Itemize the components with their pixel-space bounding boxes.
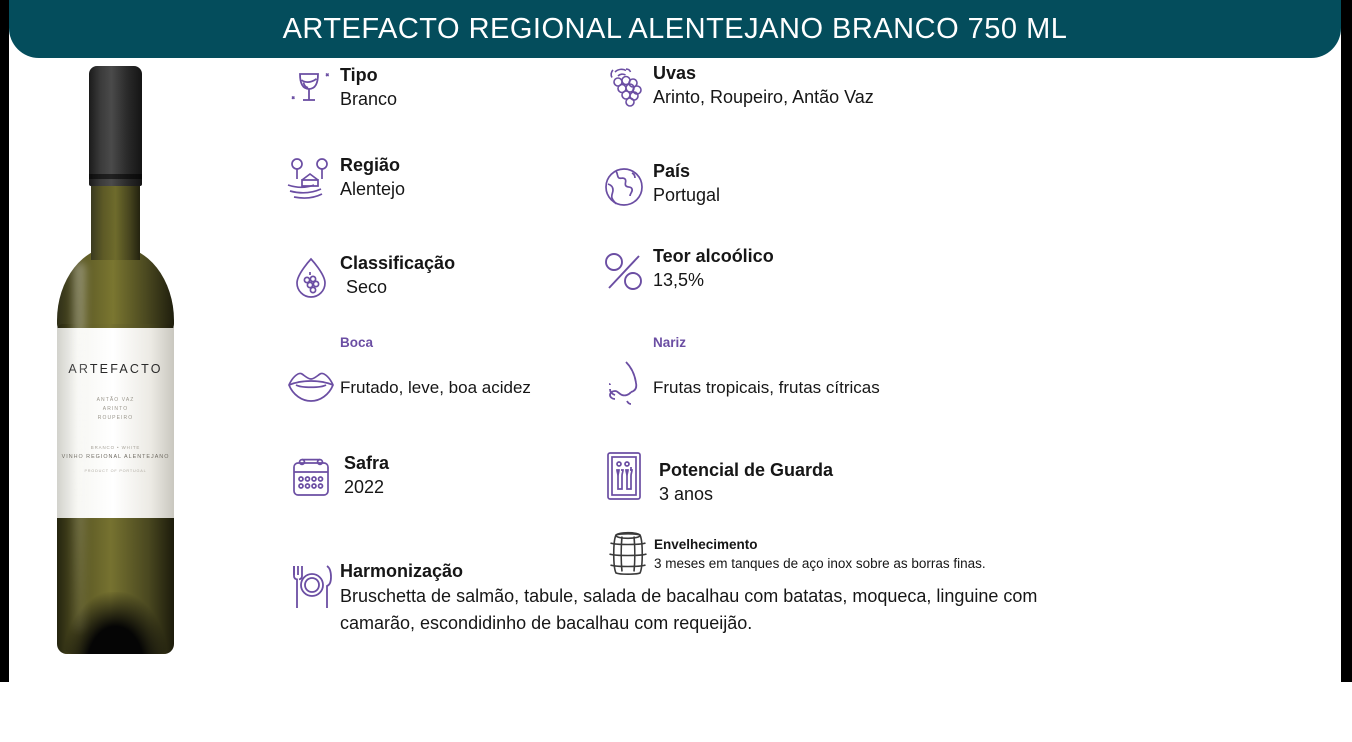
spec-value: Seco — [340, 275, 455, 300]
percent-icon — [595, 243, 653, 301]
spec-label: Boca — [340, 334, 531, 352]
calendar-icon — [282, 450, 340, 508]
lips-icon — [282, 356, 340, 414]
wine-fridge-icon — [595, 447, 653, 505]
spec-row-harmonizacao: Harmonização Bruschetta de salmão, tabul… — [282, 558, 1060, 637]
vineyard-icon — [282, 152, 340, 210]
spec-row-pais: País Portugal — [595, 158, 720, 216]
spec-value: 3 anos — [653, 482, 833, 507]
spec-label: Envelhecimento — [654, 536, 986, 554]
wine-glass-icon — [282, 62, 340, 120]
right-edge-bar — [1341, 0, 1352, 682]
header-banner: ARTEFACTO REGIONAL ALENTEJANO BRANCO 750… — [9, 0, 1341, 58]
spec-value: Frutas tropicais, frutas cítricas — [653, 376, 880, 400]
spec-label: País — [653, 160, 720, 183]
spec-row-regiao: Região Alentejo — [282, 152, 405, 210]
spec-label: Região — [340, 154, 405, 177]
spec-label: Potencial de Guarda — [653, 459, 833, 482]
spec-label: Harmonização — [340, 560, 1060, 583]
cutlery-icon — [282, 558, 340, 616]
spec-row-safra: Safra 2022 — [282, 450, 389, 508]
wine-bottle-image: ARTEFACTO ANTÃO VAZARINTOROUPEIRO BRANCO… — [51, 66, 181, 656]
spec-row-classificacao: Classificação Seco — [282, 250, 455, 308]
spec-label: Safra — [340, 452, 389, 475]
spec-row-teor-alcoolico: Teor alcoólico 13,5% — [595, 243, 774, 301]
droplet-grape-icon — [282, 250, 340, 308]
bottle-capsule — [89, 66, 142, 186]
spec-row-nariz: Nariz Frutas tropicais, frutas cítricas — [595, 334, 880, 414]
wine-spec-sheet: ARTEFACTO REGIONAL ALENTEJANO BRANCO 750… — [0, 0, 1352, 742]
bottle-neck — [91, 178, 140, 260]
spec-label: Uvas — [653, 62, 874, 85]
spec-row-tipo: Tipo Branco — [282, 62, 397, 120]
spec-value: Portugal — [653, 183, 720, 208]
grapes-icon — [595, 60, 653, 118]
spec-value: Frutado, leve, boa acidez — [340, 376, 531, 400]
bottle-highlight — [73, 262, 86, 632]
spec-value: 13,5% — [653, 268, 774, 293]
left-edge-bar — [0, 0, 9, 682]
spec-label: Tipo — [340, 64, 397, 87]
label-origin-text: PRODUCT OF PORTUGAL — [84, 469, 146, 473]
label-classification-text: BRANCO • WHITE — [91, 445, 141, 450]
spec-value: Arinto, Roupeiro, Antão Vaz — [653, 85, 874, 110]
page-title: ARTEFACTO REGIONAL ALENTEJANO BRANCO 750… — [283, 13, 1068, 46]
spec-value: Bruschetta de salmão, tabule, salada de … — [340, 583, 1060, 637]
globe-icon — [595, 158, 653, 216]
spec-label: Nariz — [653, 334, 880, 352]
spec-value: 2022 — [340, 475, 389, 500]
nose-icon — [595, 356, 653, 414]
label-varietals-text: ANTÃO VAZARINTOROUPEIRO — [97, 396, 135, 423]
spec-row-uvas: Uvas Arinto, Roupeiro, Antão Vaz — [595, 60, 874, 118]
spec-value: Branco — [340, 87, 397, 112]
spec-row-potencial-de-guarda: Potencial de Guarda 3 anos — [595, 447, 833, 507]
spec-value: Alentejo — [340, 177, 405, 202]
product-image-pane: ARTEFACTO ANTÃO VAZARINTOROUPEIRO BRANCO… — [9, 58, 271, 682]
spec-label: Teor alcoólico — [653, 245, 774, 268]
spec-row-boca: Boca Frutado, leve, boa acidez — [282, 334, 531, 414]
spec-label: Classificação — [340, 252, 455, 275]
